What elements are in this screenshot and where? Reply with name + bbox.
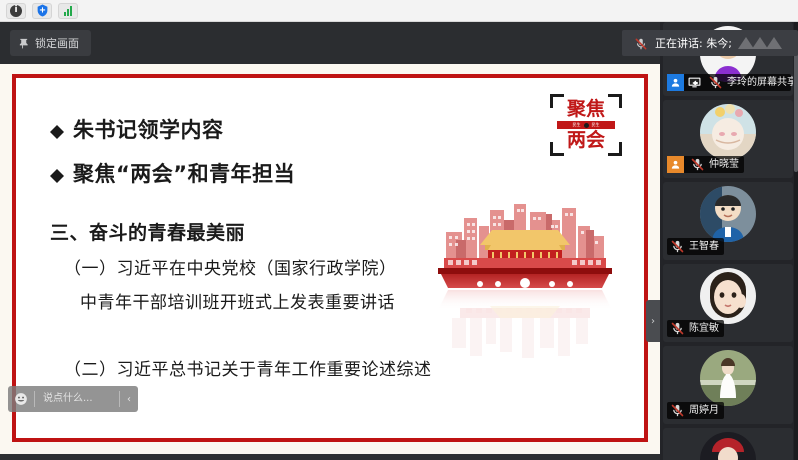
stamp-dot-icon — [584, 123, 589, 128]
mic-muted-icon-svg — [670, 239, 685, 254]
mic-muted-icon — [634, 36, 648, 50]
stamp-line1: 聚焦 — [567, 100, 605, 119]
participant-tile[interactable] — [663, 428, 793, 460]
stamp-mid-right: 民生 — [592, 123, 600, 127]
mic-muted-icon — [708, 75, 723, 90]
mic-muted-icon — [690, 157, 705, 172]
avatar — [700, 268, 756, 324]
participant-tile[interactable]: 王智春 — [663, 182, 793, 260]
app-root: i 锁定画面 — [0, 0, 798, 460]
slide-body-line-3: （二）习近平总书记关于青年工作重要论述综述 — [50, 355, 494, 380]
avatar — [700, 104, 756, 160]
stamp-middle-band: 民生 民生 — [557, 121, 615, 129]
participant-namebar: 李玲的屏幕共享 — [667, 74, 791, 91]
audio-wave-icon — [738, 35, 790, 51]
panel-collapse-handle[interactable]: › — [646, 300, 660, 342]
smiley-icon-svg — [14, 392, 28, 406]
mic-muted-icon — [670, 239, 685, 254]
stamp-inner: 聚焦 民生 民生 两会 — [557, 99, 615, 151]
avatar — [700, 186, 756, 242]
participant-namebar: 陈宜敏 — [667, 320, 724, 337]
participant-namebar: 王智春 — [667, 238, 724, 255]
mic-muted-icon-svg — [708, 75, 723, 90]
mic-muted-icon — [670, 403, 685, 418]
signal-icon[interactable] — [58, 3, 78, 19]
slide-body-line-1: （一）习近平在中央党校（国家行政学院） — [50, 254, 494, 279]
lock-screen-button[interactable]: 锁定画面 — [10, 30, 91, 56]
slide-section-title: 三、奋斗的青春最美丽 — [50, 218, 494, 245]
rail-scrollbar-thumb[interactable] — [794, 52, 798, 172]
rail-scrollbar-track[interactable] — [794, 22, 798, 460]
participant-rail[interactable]: 李玲的屏幕共享 — [660, 22, 798, 460]
participant-namebar: 仲晓莹 — [667, 156, 744, 173]
screen-share-icon-svg — [688, 77, 701, 88]
slide-bullet-1-label: 朱书记领学内容 — [73, 114, 224, 144]
avatar-photo-whitedress — [700, 350, 756, 406]
diamond-bullet-icon — [50, 162, 64, 176]
avatar — [700, 350, 756, 406]
person-badge-icon — [667, 74, 684, 91]
participant-name: 王智春 — [688, 238, 719, 255]
share-toolbar: 锁定画面 — [0, 22, 660, 64]
participant-name: 陈宜敏 — [688, 320, 719, 337]
slide-bullet-2: 聚焦“两会”和青年担当 — [50, 158, 494, 188]
mic-muted-icon-svg — [634, 37, 648, 51]
pin-icon — [18, 37, 29, 50]
participant-tile[interactable]: 仲晓莹 — [663, 100, 793, 178]
shared-screen-stage[interactable]: 聚焦 民生 民生 两会 — [0, 64, 660, 460]
mic-muted-icon-svg — [670, 321, 685, 336]
avatar — [700, 432, 756, 460]
slide-bullet-2-label: 聚焦“两会”和青年担当 — [73, 158, 295, 188]
lock-screen-label: 锁定画面 — [35, 35, 79, 51]
avatar-anime-red — [700, 432, 756, 460]
slide-body-line-2: 中青年干部培训班开班式上发表重要讲话 — [50, 288, 494, 313]
meeting-window: 锁定画面 聚焦 民生 — [0, 22, 798, 460]
smiley-icon[interactable] — [8, 392, 34, 406]
signal-bars — [64, 5, 72, 16]
avatar-photo-girl — [700, 268, 756, 324]
info-icon[interactable]: i — [6, 3, 26, 19]
speaking-label: 正在讲话: 朱今; — [655, 35, 732, 51]
mic-muted-icon-svg — [670, 403, 685, 418]
screen-share-icon — [687, 74, 702, 91]
two-sessions-stamp: 聚焦 民生 民生 两会 — [550, 94, 622, 156]
person-badge-icon — [667, 156, 684, 173]
diamond-bullet-icon — [50, 118, 64, 132]
avatar-cartoon-boy — [700, 186, 756, 242]
stamp-mid-left: 民生 — [573, 123, 581, 127]
chat-input[interactable]: 说点什么... — [34, 391, 120, 407]
browser-toolbar: i — [0, 0, 798, 22]
person-icon — [670, 159, 681, 170]
chat-collapse-button[interactable]: ‹ — [120, 394, 138, 405]
slide-text-block: 朱书记领学内容 聚焦“两会”和青年担当 三、奋斗的青春最美丽 （一）习近平在中央… — [50, 114, 494, 380]
shield-icon-svg — [36, 4, 49, 17]
info-glyph: i — [10, 5, 22, 17]
shield-icon[interactable] — [32, 3, 52, 19]
participant-name: 周婷月 — [688, 402, 719, 419]
participant-namebar: 周婷月 — [667, 402, 724, 419]
mic-muted-icon — [670, 321, 685, 336]
stamp-line2: 两会 — [567, 131, 605, 150]
chat-composer[interactable]: 说点什么... ‹ — [8, 386, 138, 412]
slide-bullet-1: 朱书记领学内容 — [50, 114, 494, 144]
mic-muted-icon-svg — [690, 157, 705, 172]
participant-tile[interactable]: 陈宜敏 — [663, 264, 793, 342]
speaking-banner: 正在讲话: 朱今; — [622, 30, 798, 56]
avatar-photo-flowers — [700, 104, 756, 160]
participant-name: 仲晓莹 — [708, 156, 739, 173]
person-icon — [670, 77, 681, 88]
participant-tile[interactable]: 周婷月 — [663, 346, 793, 424]
participant-name: 李玲的屏幕共享 — [726, 74, 793, 91]
